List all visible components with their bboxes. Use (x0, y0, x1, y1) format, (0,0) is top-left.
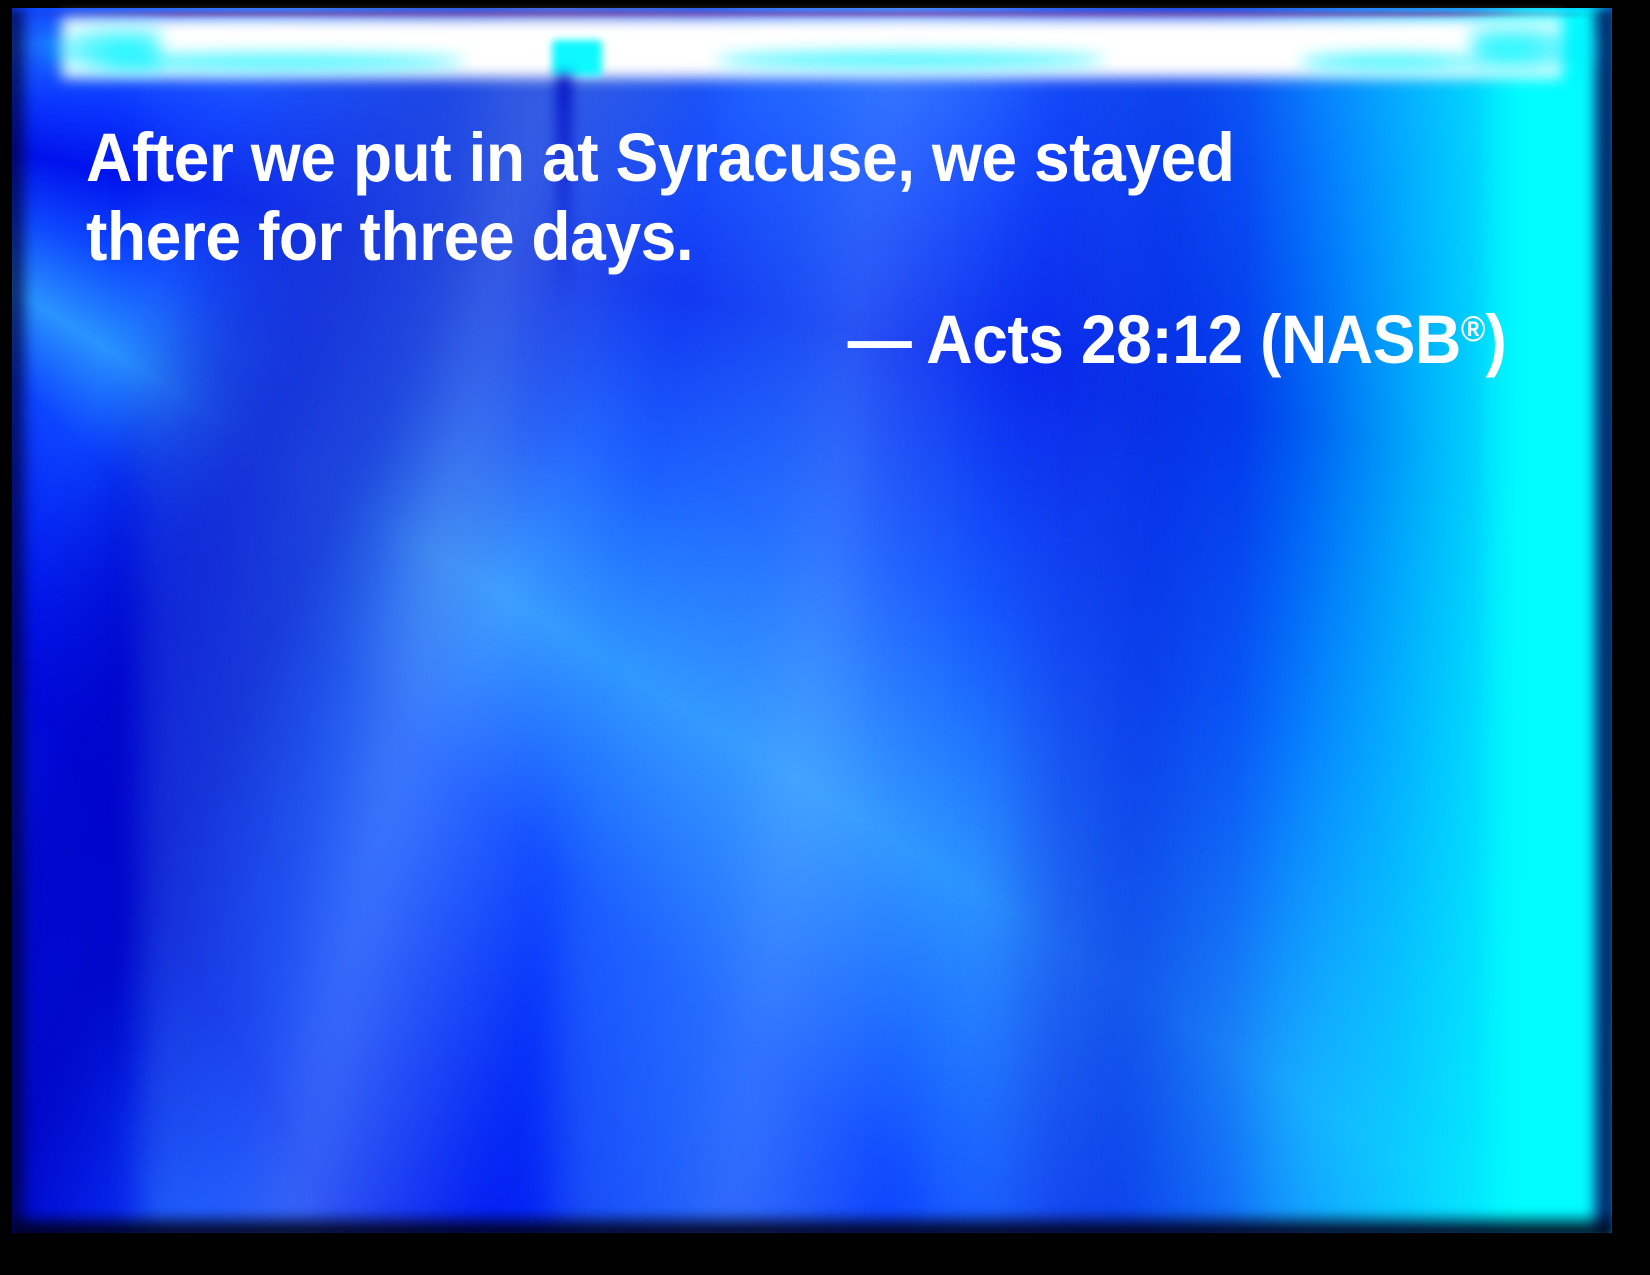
background-bottom-seam (12, 1211, 1612, 1233)
top-glow-cyan-left (40, 24, 160, 76)
background-cyan-core-right (1476, 8, 1604, 1233)
top-hairline (24, 12, 1604, 17)
top-glow-wisp-3 (1300, 54, 1480, 70)
top-glow-wisp-2 (715, 52, 1105, 68)
scripture-slide: After we put in at Syracuse, we stayed t… (0, 0, 1650, 1275)
background-right-seam (1588, 8, 1612, 1233)
top-glow-wisp-1 (95, 54, 465, 70)
background-gradient-field (12, 8, 1612, 1233)
top-glow-cyan-right (1472, 22, 1602, 76)
background-left-seam (12, 8, 32, 1233)
top-glow-notch (552, 40, 602, 76)
top-glow-notch-thread (556, 74, 572, 314)
